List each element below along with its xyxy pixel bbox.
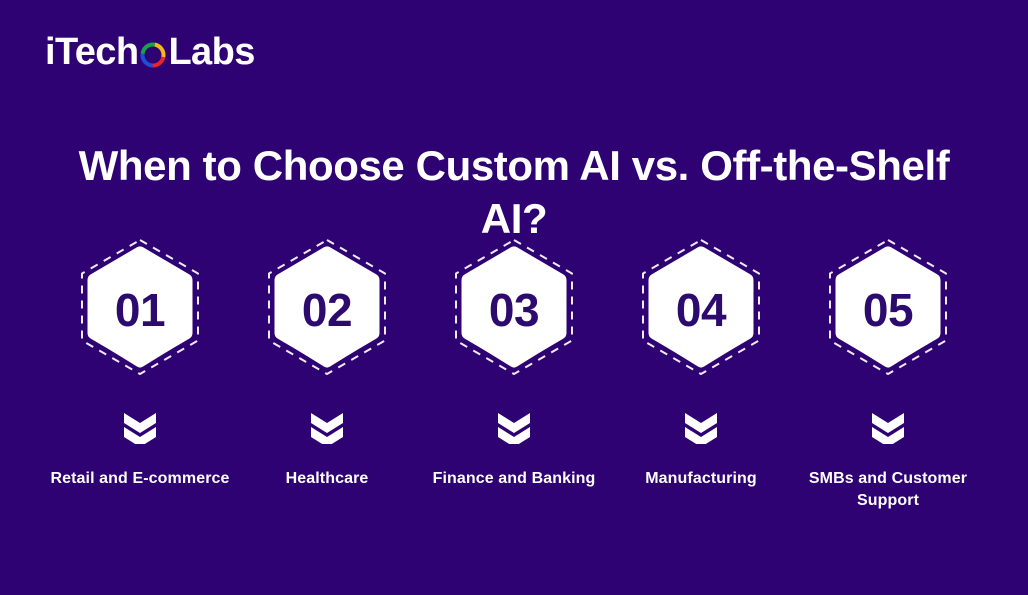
hexagon-badge: 05 bbox=[813, 236, 963, 401]
step-label: Manufacturing bbox=[610, 468, 792, 490]
page-title: When to Choose Custom AI vs. Off-the-She… bbox=[44, 140, 984, 246]
double-chevron-down-icon bbox=[679, 410, 723, 444]
step-item-04: 04 Manufacturing bbox=[610, 236, 792, 490]
double-chevron-down-icon bbox=[305, 410, 349, 444]
hexagon-badge: 03 bbox=[439, 236, 589, 401]
logo-text-itech: iTech bbox=[45, 33, 138, 71]
step-item-01: 01 Retail and E-commerce bbox=[49, 236, 231, 490]
hexagon-badge: 04 bbox=[626, 236, 776, 401]
step-label: SMBs and Customer Support bbox=[797, 468, 979, 512]
step-label: Retail and E-commerce bbox=[49, 468, 231, 490]
brand-logo: iTech Labs bbox=[45, 33, 255, 71]
hexagon-badge: 01 bbox=[65, 236, 215, 401]
step-item-03: 03 Finance and Banking bbox=[423, 236, 605, 490]
hexagon-badge: 02 bbox=[252, 236, 402, 401]
double-chevron-down-icon bbox=[492, 410, 536, 444]
step-number: 02 bbox=[252, 236, 402, 384]
step-number: 05 bbox=[813, 236, 963, 384]
step-label: Healthcare bbox=[236, 468, 418, 490]
step-number: 03 bbox=[439, 236, 589, 384]
step-number: 04 bbox=[626, 236, 776, 384]
step-item-05: 05 SMBs and Customer Support bbox=[797, 236, 979, 512]
step-label: Finance and Banking bbox=[423, 468, 605, 490]
steps-row: 01 Retail and E-commerce 02 Healthcare bbox=[49, 236, 979, 512]
step-number: 01 bbox=[65, 236, 215, 384]
step-item-02: 02 Healthcare bbox=[236, 236, 418, 490]
double-chevron-down-icon bbox=[866, 410, 910, 444]
logo-text-labs: Labs bbox=[168, 33, 254, 71]
logo-ring-icon bbox=[139, 41, 167, 69]
double-chevron-down-icon bbox=[118, 410, 162, 444]
